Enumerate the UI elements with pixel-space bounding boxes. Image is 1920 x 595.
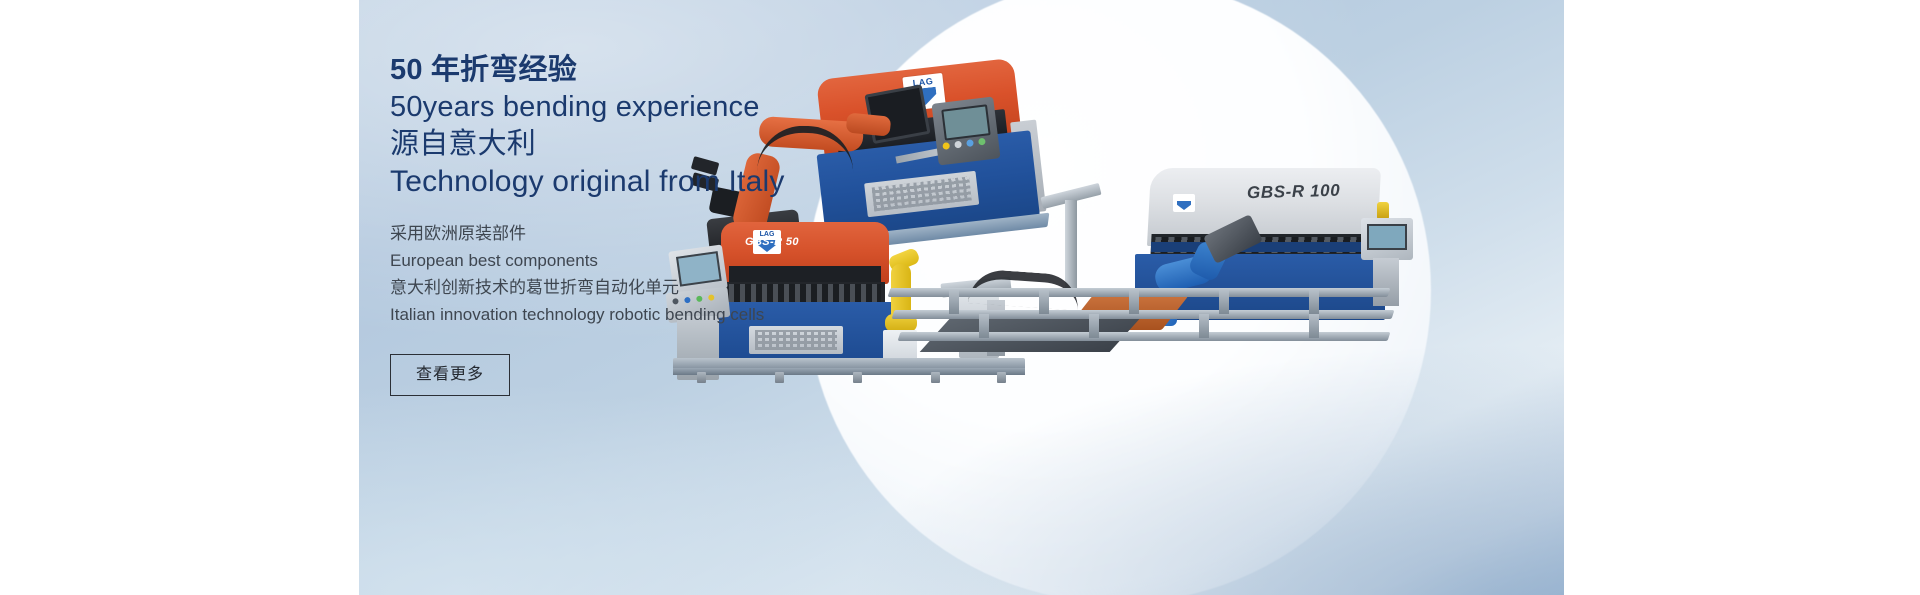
hero-banner: LAG (359, 0, 1564, 595)
hero-copy: 50 年折弯经验 50years bending experience 源自意大… (390, 52, 950, 396)
mast-column (1065, 200, 1077, 296)
machine-foot (997, 372, 1006, 383)
rail-tie (1219, 290, 1229, 314)
pendant-button-3 (978, 138, 986, 146)
rail-tie (1039, 290, 1049, 314)
pendant-button-2 (966, 139, 974, 147)
hero-subtext: 采用欧洲原装部件 European best components 意大利创新技… (390, 220, 950, 328)
banner-stage: LAG (0, 0, 1920, 595)
lag-logo-chevron-icon (1177, 201, 1191, 210)
subtext-line-1: 采用欧洲原装部件 (390, 220, 950, 247)
headline-line-4: Technology original from Italy (390, 163, 950, 201)
headline-line-2: 50years bending experience (390, 89, 950, 126)
headline-line-1: 50 年折弯经验 (390, 52, 950, 89)
rail-middle (892, 310, 1395, 319)
rail-tie (1309, 290, 1319, 314)
machine-unit-gbsr100: GBS-R 100 (929, 168, 1449, 368)
lag-logo-icon (1173, 194, 1195, 212)
rail-tie (1199, 314, 1209, 338)
rail-tie (1309, 314, 1319, 338)
headline-years-number: 50 (390, 54, 423, 86)
rail-tie (979, 314, 989, 338)
rail-tie (1129, 290, 1139, 314)
subtext-line-2: European best components (390, 247, 950, 274)
rail-tie (949, 290, 959, 314)
rail-system-right (889, 284, 1429, 350)
headline-line-1-rest: 年折弯经验 (423, 54, 577, 86)
subtext-line-4: Italian innovation technology robotic be… (390, 301, 950, 328)
machine-model-label-gbsr100: GBS-R 100 (1247, 181, 1341, 203)
rail-tie (1089, 314, 1099, 338)
pendant-button-1 (954, 141, 962, 149)
pendant-buttons (942, 137, 994, 159)
cnc-screen (1361, 218, 1413, 260)
view-more-button[interactable]: 查看更多 (390, 354, 510, 396)
headline-line-3: 源自意大利 (390, 126, 950, 163)
subtext-line-3: 意大利创新技术的葛世折弯自动化单元 (390, 274, 950, 301)
